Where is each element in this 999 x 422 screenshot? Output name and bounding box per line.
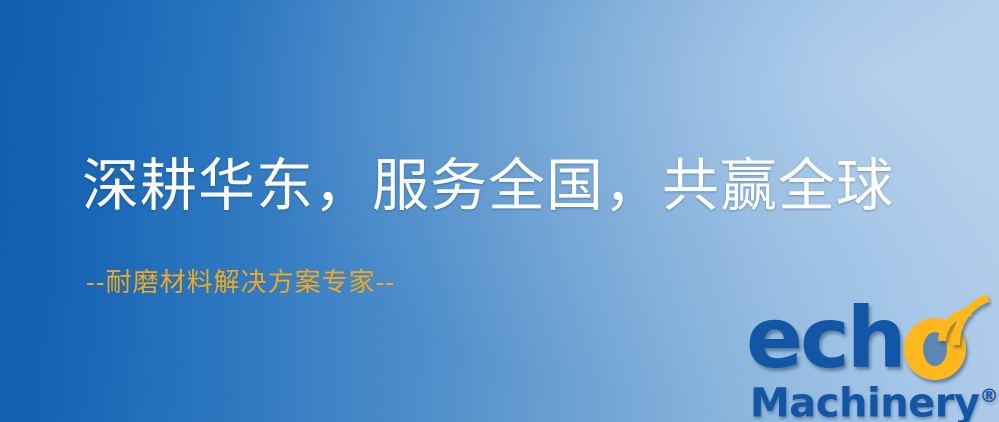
banner-subtitle: --耐磨材料解决方案专家-- — [86, 266, 395, 300]
logo-word-primary: ech — [746, 296, 904, 380]
wifi-signal-icon — [936, 292, 996, 354]
promo-banner: 深耕华东，服务全国，共赢全球 --耐磨材料解决方案专家-- ech — [0, 0, 999, 422]
registered-trademark-icon: ® — [980, 385, 999, 407]
logo-tagline-text: Machinery — [750, 380, 980, 422]
logo-wordmark: ech — [746, 296, 980, 372]
company-logo: ech Machinery® — [746, 296, 996, 418]
banner-headline: 深耕华东，服务全国，共赢全球 — [82, 152, 894, 220]
logo-letter-o-group — [902, 296, 980, 380]
logo-tagline: Machinery® — [750, 374, 999, 422]
